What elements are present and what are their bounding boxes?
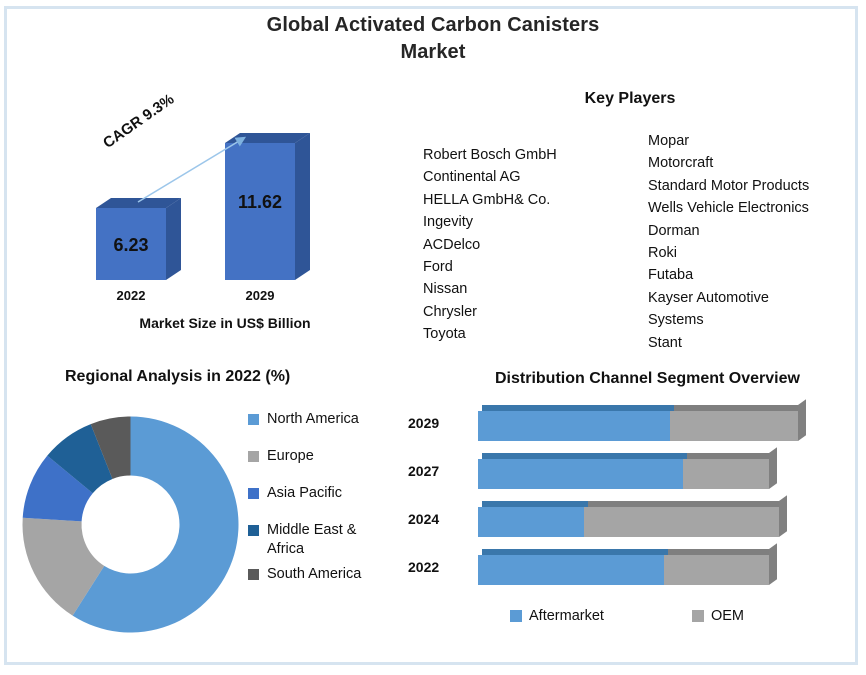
key-player-item: Kayser Automotive [648,287,863,309]
regional-legend-item: Middle East & Africa [248,521,398,559]
distribution-legend: AftermarketOEM [510,608,800,624]
legend-swatch-icon [248,525,259,536]
key-player-item: Robert Bosch GmbH [423,144,623,166]
key-players-heading: Key Players [480,90,780,108]
distribution-stacked-bar [478,411,798,441]
key-player-item: Stant [648,332,863,354]
key-player-item: Dorman [648,220,863,242]
regional-legend-label: Asia Pacific [267,484,342,503]
legend-swatch-icon [248,414,259,425]
distribution-segment-aftermarket [478,411,670,441]
page-title: Global Activated Carbon Canisters Market [0,12,866,66]
key-player-item: Wells Vehicle Electronics [648,197,863,219]
distribution-stacked-bar-chart: 2029202720242022 [404,405,854,590]
legend-swatch-icon [248,569,259,580]
regional-legend-label: North America [267,410,359,429]
legend-swatch-icon [692,610,704,622]
market-size-bar-chart: 6.23 11.62 CAGR 9.3% 2022 2029 Market Si… [60,110,390,355]
distribution-legend-label: Aftermarket [529,608,604,624]
distribution-year-label: 2022 [408,559,464,575]
distribution-legend-label: OEM [711,608,744,624]
legend-swatch-icon [510,610,522,622]
distribution-bar-row: 2027 [404,453,854,491]
regional-donut-chart [18,412,243,637]
regional-legend-item: South America [248,565,398,584]
bar-2022-side-face [166,198,181,280]
bar-year-label-2029: 2029 [220,288,300,303]
bar-2029-value: 11.62 [225,192,295,213]
key-player-item: Systems [648,309,863,331]
regional-legend-label: Middle East & Africa [267,521,362,559]
key-player-item: Ingevity [423,211,623,233]
donut-svg [18,412,243,637]
distribution-segment-oem [683,459,769,489]
key-player-item: Roki [648,242,863,264]
distribution-year-label: 2027 [408,463,464,479]
distribution-segment-oem [664,555,770,585]
page-title-line1: Global Activated Carbon Canisters [267,14,600,36]
distribution-year-label: 2029 [408,415,464,431]
distribution-stacked-bar [478,555,769,585]
key-player-item: Nissan [423,278,623,300]
distribution-year-label: 2024 [408,511,464,527]
key-player-item: Chrysler [423,301,623,323]
distribution-bar-side-face [798,399,806,441]
distribution-bar-row: 2024 [404,501,854,539]
distribution-bar-row: 2029 [404,405,854,443]
distribution-channel-heading: Distribution Channel Segment Overview [495,370,865,388]
distribution-segment-aftermarket [478,555,664,585]
key-player-item: Continental AG [423,166,623,188]
bar-year-label-2022: 2022 [91,288,171,303]
bar-2022-value: 6.23 [96,235,166,256]
page-title-line2: Market [0,39,866,66]
regional-analysis-heading: Regional Analysis in 2022 (%) [20,368,350,386]
distribution-segment-aftermarket [478,459,683,489]
distribution-bar-row: 2022 [404,549,854,587]
regional-legend-label: South America [267,565,361,584]
legend-swatch-icon [248,488,259,499]
key-player-item: Toyota [423,323,623,345]
key-player-item: ACDelco [423,234,623,256]
key-player-item: HELLA GmbH& Co. [423,189,623,211]
market-size-axis-label: Market Size in US$ Billion [60,315,390,331]
regional-legend-item: Europe [248,447,398,466]
distribution-segment-oem [670,411,798,441]
regional-legend-label: Europe [267,447,314,466]
regional-legend-item: Asia Pacific [248,484,398,503]
key-player-item: Standard Motor Products [648,175,863,197]
key-player-item: Mopar [648,130,863,152]
key-player-item: Motorcraft [648,152,863,174]
distribution-stacked-bar [478,507,779,537]
key-player-item: Futaba [648,264,863,286]
distribution-legend-item: Aftermarket [510,608,604,624]
key-player-item: Ford [423,256,623,278]
key-players-column-2: MoparMotorcraftStandard Motor ProductsWe… [648,130,863,354]
distribution-segment-aftermarket [478,507,584,537]
bar-2029-side-face [295,133,310,280]
legend-swatch-icon [248,451,259,462]
regional-legend: North AmericaEuropeAsia PacificMiddle Ea… [248,410,398,602]
regional-legend-item: North America [248,410,398,429]
distribution-legend-item: OEM [692,608,744,624]
distribution-stacked-bar [478,459,769,489]
distribution-segment-oem [584,507,779,537]
key-players-column-1: Robert Bosch GmbHContinental AGHELLA Gmb… [423,144,623,346]
distribution-bar-side-face [769,543,777,585]
distribution-bar-side-face [779,495,787,537]
distribution-bar-side-face [769,447,777,489]
